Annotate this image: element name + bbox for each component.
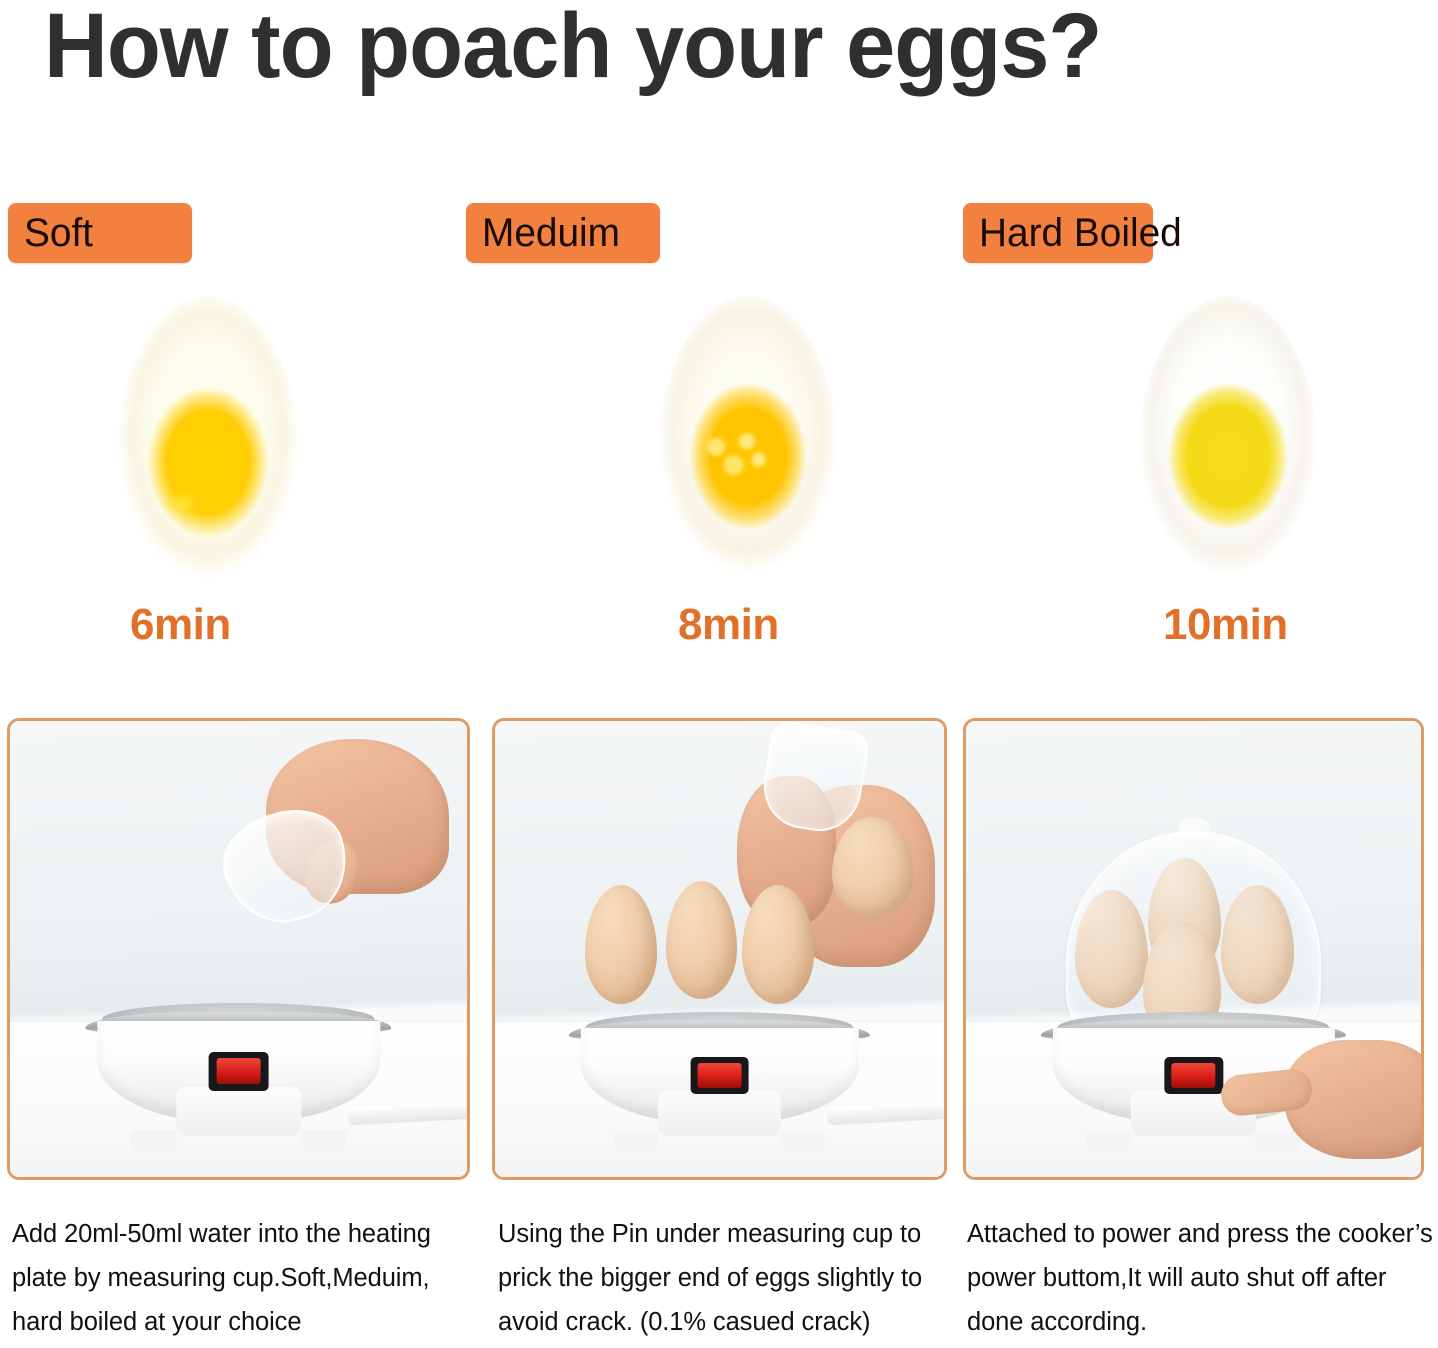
step-photo-2 — [492, 718, 947, 1180]
stage-label-text: Soft — [24, 211, 93, 256]
stage-label-hard-boiled: Hard Boiled — [963, 203, 1153, 263]
egg-cross-section-hard-boiled — [1078, 296, 1378, 596]
cooker-foot — [781, 1131, 826, 1153]
power-button[interactable] — [209, 1052, 268, 1091]
page-title: How to poach your eggs? — [44, 0, 1101, 95]
cooker-foot — [131, 1130, 176, 1153]
cooker-foot — [301, 1130, 346, 1153]
power-button[interactable] — [1164, 1057, 1223, 1094]
cooker-foot — [1256, 1131, 1301, 1153]
hard-boiled-egg-image — [1138, 296, 1318, 582]
egg-cross-section-meduim — [598, 296, 898, 596]
step-photo-1 — [7, 718, 470, 1180]
step-caption-2: Using the Pin under measuring cup to pri… — [498, 1212, 960, 1344]
cook-time-soft: 6min — [130, 600, 231, 650]
egg-cooker — [97, 995, 380, 1141]
cook-time-meduim: 8min — [678, 600, 779, 650]
egg-cooker — [580, 1004, 858, 1141]
stage-label-text: Meduim — [482, 211, 620, 256]
photo-background — [10, 721, 467, 1177]
soft-boiled-egg-image — [118, 296, 298, 582]
cooker-foot — [614, 1131, 659, 1153]
cooker-foot — [1086, 1131, 1131, 1153]
step-caption-1: Add 20ml-50ml water into the heating pla… — [12, 1212, 482, 1344]
egg-in-tray — [585, 885, 657, 1004]
photo-background — [495, 721, 944, 1177]
stage-label-text: Hard Boiled — [979, 211, 1182, 256]
stage-label-soft: Soft — [8, 203, 192, 263]
photo-background — [966, 721, 1421, 1177]
cook-time-hard-boiled: 10min — [1163, 600, 1288, 650]
egg-cross-section-soft — [58, 296, 358, 596]
switch-plate — [658, 1090, 781, 1137]
switch-plate — [176, 1087, 301, 1137]
dome-knob — [1178, 818, 1208, 837]
medium-boiled-egg-image — [658, 296, 838, 582]
infographic-page: How to poach your eggs? Soft Meduim Hard… — [0, 0, 1438, 1348]
stage-label-meduim: Meduim — [466, 203, 660, 263]
step-caption-3: Attached to power and press the cooker’s… — [967, 1212, 1435, 1344]
step-photo-3 — [963, 718, 1424, 1180]
power-button[interactable] — [690, 1057, 748, 1094]
egg-in-tray — [666, 881, 738, 1000]
